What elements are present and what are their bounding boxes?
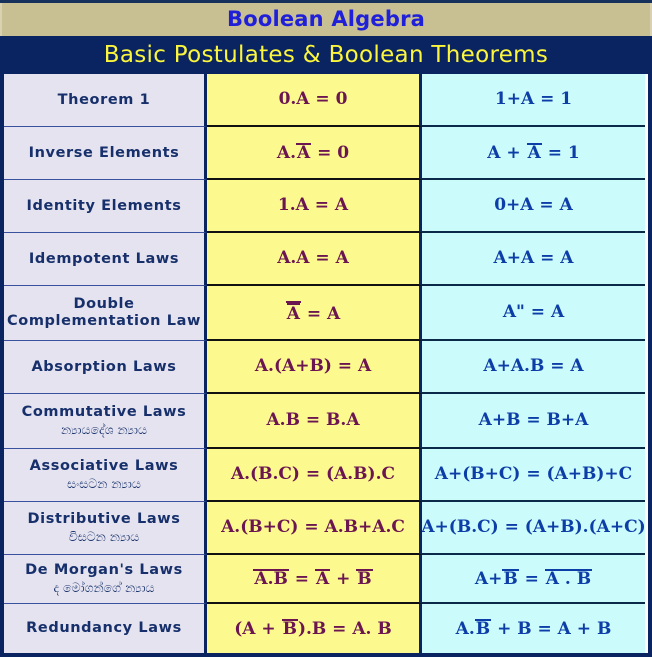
page-title: Boolean Algebra (227, 9, 425, 30)
laws-table: Theorem 10.A = 01+A = 1Inverse ElementsA… (0, 74, 652, 657)
law-name-english: De Morgan's Laws (25, 562, 183, 579)
table-row: Identity Elements1.A = A0+A = A (4, 180, 648, 233)
and-form-expression: A = A (286, 301, 340, 324)
or-form-expression: A+A.B = A (483, 357, 583, 376)
and-form-expression: A.B = A + B (253, 569, 372, 589)
law-name-cell: Theorem 1 (4, 74, 207, 127)
law-name-sinhala: විසටන න්‍යාය (69, 529, 140, 545)
table-row: Associative Lawsසංසටන න්‍යායA.(B.C) = (A… (4, 449, 648, 502)
and-form-expression: A.(B+C) = A.B+A.C (221, 518, 405, 537)
law-name-english: Distributive Laws (28, 511, 181, 528)
or-form-expression: A.B + B = A + B (456, 619, 612, 639)
title-bar: Boolean Algebra (0, 3, 652, 36)
law-name-cell: Inverse Elements (4, 127, 207, 180)
and-form-cell: A.A = A (207, 233, 422, 286)
law-name-cell: Commutative Lawsන්‍යායදේශ න්‍යාය (4, 394, 207, 449)
or-form-cell: 1+A = 1 (422, 74, 645, 127)
and-form-cell: A = A (207, 286, 422, 341)
and-form-expression: A.(B.C) = (A.B).C (231, 465, 395, 484)
or-form-cell: A+(B.C) = (A+B).(A+C) (422, 502, 645, 555)
page-subtitle: Basic Postulates & Boolean Theorems (104, 44, 548, 67)
and-form-cell: A.(B+C) = A.B+A.C (207, 502, 422, 555)
or-form-cell: 0+A = A (422, 180, 645, 233)
and-form-cell: 0.A = 0 (207, 74, 422, 127)
table-row: Theorem 10.A = 01+A = 1 (4, 74, 648, 127)
or-form-cell: A+B = A . B (422, 555, 645, 604)
or-form-expression: 1+A = 1 (495, 90, 572, 109)
and-form-cell: A.(B.C) = (A.B).C (207, 449, 422, 502)
boolean-algebra-table-image: Boolean Algebra Basic Postulates & Boole… (0, 0, 652, 657)
and-form-expression: A.A = 0 (277, 143, 349, 163)
or-form-expression: 0+A = A (494, 196, 573, 215)
and-form-expression: 1.A = A (278, 196, 348, 215)
or-form-expression: A+B = A . B (475, 569, 592, 589)
table-row: Commutative Lawsන්‍යායදේශ න්‍යායA.B = B.… (4, 394, 648, 449)
law-name-sinhala: සංසටන න්‍යාය (67, 476, 141, 492)
law-name-sinhala: ද මෝගන්ගේ න්‍යාය (53, 580, 154, 596)
law-name-cell: Double Complementation Law (4, 286, 207, 341)
and-form-expression: A.(A+B) = A (255, 357, 371, 376)
law-name-english: Double Complementation Law (7, 296, 201, 329)
law-name-english: Idempotent Laws (29, 251, 179, 268)
and-form-expression: 0.A = 0 (279, 90, 348, 109)
law-name-english: Identity Elements (26, 198, 181, 215)
and-form-cell: A.(A+B) = A (207, 341, 422, 394)
and-form-cell: A.A = 0 (207, 127, 422, 180)
law-name-english: Commutative Laws (22, 404, 187, 421)
table-row: Redundancy Laws(A + B).B = A. BA.B + B =… (4, 604, 648, 653)
law-name-cell: Redundancy Laws (4, 604, 207, 653)
law-name-cell: Identity Elements (4, 180, 207, 233)
or-form-cell: A+A = A (422, 233, 645, 286)
or-form-cell: A + A = 1 (422, 127, 645, 180)
law-name-cell: Associative Lawsසංසටන න්‍යාය (4, 449, 207, 502)
or-form-expression: A+(B+C) = (A+B)+C (435, 465, 632, 484)
law-name-cell: Absorption Laws (4, 341, 207, 394)
or-form-cell: A+A.B = A (422, 341, 645, 394)
law-name-cell: De Morgan's Lawsද මෝගන්ගේ න්‍යාය (4, 555, 207, 604)
or-form-cell: A+(B+C) = (A+B)+C (422, 449, 645, 502)
table-row: Absorption LawsA.(A+B) = AA+A.B = A (4, 341, 648, 394)
and-form-expression: (A + B).B = A. B (234, 619, 392, 639)
or-form-cell: A.B + B = A + B (422, 604, 645, 653)
or-form-cell: A+B = B+A (422, 394, 645, 449)
laws-table-body: Theorem 10.A = 01+A = 1Inverse ElementsA… (4, 74, 648, 653)
or-form-cell: A" = A (422, 286, 645, 341)
law-name-cell: Idempotent Laws (4, 233, 207, 286)
and-form-expression: A.A = A (277, 249, 349, 268)
table-row: Double Complementation LawA = AA" = A (4, 286, 648, 341)
law-name-english: Theorem 1 (58, 92, 151, 109)
or-form-expression: A+(B.C) = (A+B).(A+C) (422, 518, 645, 537)
table-row: Idempotent LawsA.A = AA+A = A (4, 233, 648, 286)
and-form-cell: 1.A = A (207, 180, 422, 233)
or-form-expression: A+B = B+A (479, 411, 589, 430)
law-name-cell: Distributive Lawsවිසටන න්‍යාය (4, 502, 207, 555)
and-form-cell: A.B = A + B (207, 555, 422, 604)
table-row: Distributive Lawsවිසටන න්‍යායA.(B+C) = A… (4, 502, 648, 555)
or-form-expression: A + A = 1 (487, 143, 579, 163)
subtitle-bar: Basic Postulates & Boolean Theorems (0, 36, 652, 74)
table-row: De Morgan's Lawsද මෝගන්ගේ න්‍යායA.B = A … (4, 555, 648, 604)
law-name-english: Absorption Laws (31, 359, 176, 376)
law-name-english: Associative Laws (30, 458, 179, 475)
or-form-expression: A" = A (503, 303, 564, 322)
law-name-sinhala: න්‍යායදේශ න්‍යාය (61, 422, 147, 438)
law-name-english: Redundancy Laws (26, 620, 182, 637)
and-form-cell: (A + B).B = A. B (207, 604, 422, 653)
and-form-expression: A.B = B.A (266, 411, 359, 430)
table-row: Inverse ElementsA.A = 0A + A = 1 (4, 127, 648, 180)
or-form-expression: A+A = A (494, 249, 574, 268)
and-form-cell: A.B = B.A (207, 394, 422, 449)
law-name-english: Inverse Elements (29, 145, 180, 162)
